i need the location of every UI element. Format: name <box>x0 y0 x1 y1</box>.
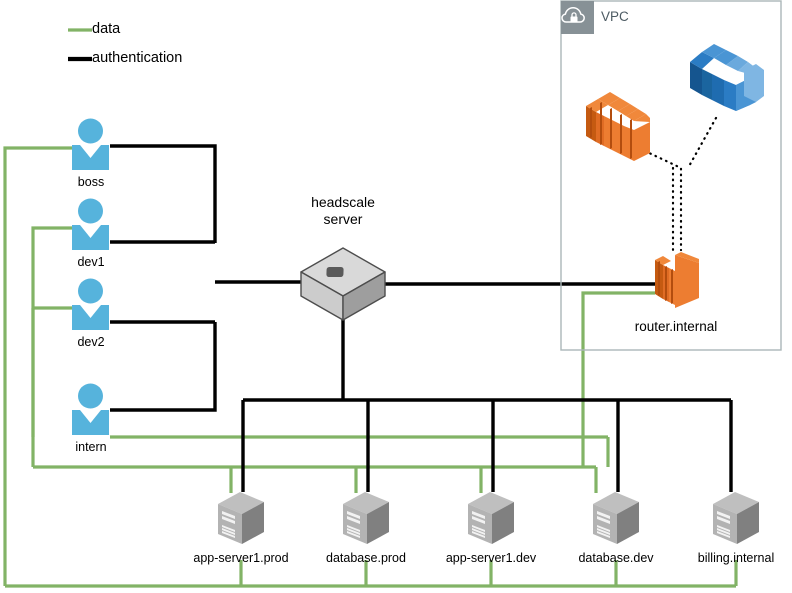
user-icon-boss <box>72 119 109 171</box>
server-label-app-server1-prod: app-server1.prod <box>176 551 306 565</box>
user-label-boss: boss <box>41 175 141 189</box>
user-icon-dev2 <box>72 279 109 331</box>
server-icon-app-server1-dev <box>468 492 514 544</box>
network-diagram-canvas: data authentication VPC headscale server… <box>0 0 792 593</box>
vpc-label: VPC <box>601 9 629 24</box>
user-icon-dev1 <box>72 199 109 251</box>
vpc-dotted-links <box>645 118 716 250</box>
server-label-database-dev: database.dev <box>561 551 671 565</box>
dotted-link-orange <box>645 151 681 250</box>
user-icons-group <box>72 119 109 436</box>
dotted-link-blue <box>688 118 716 168</box>
legend-label-authentication: authentication <box>92 50 182 66</box>
headscale-label-line1: headscale <box>283 194 403 211</box>
server-icon-billing-internal <box>713 492 759 544</box>
ec2-instance-stack-blue-icon <box>690 44 764 111</box>
user-label-dev1: dev1 <box>41 255 141 269</box>
headscale-label-line2: server <box>283 211 403 228</box>
router-internal-icon <box>655 252 699 308</box>
headscale-server-cube-icon <box>301 248 385 320</box>
server-label-database-prod: database.prod <box>306 551 426 565</box>
user-icon-intern <box>72 384 109 436</box>
server-icon-database-prod <box>343 492 389 544</box>
server-label-app-server1-dev: app-server1.dev <box>431 551 551 565</box>
auth-line-boss <box>110 146 215 243</box>
user-label-intern: intern <box>41 440 141 454</box>
server-icon-database-dev <box>593 492 639 544</box>
server-icons-group <box>218 492 759 544</box>
data-line-boss <box>5 148 72 586</box>
server-label-billing-internal: billing.internal <box>676 551 792 565</box>
router-internal-label: router.internal <box>601 319 751 335</box>
user-label-dev2: dev2 <box>41 335 141 349</box>
ec2-instance-stack-orange-icon <box>586 92 650 161</box>
legend-label-data: data <box>92 21 120 37</box>
server-icon-app-server1-prod <box>218 492 264 544</box>
connection-lines-layer <box>0 0 792 593</box>
